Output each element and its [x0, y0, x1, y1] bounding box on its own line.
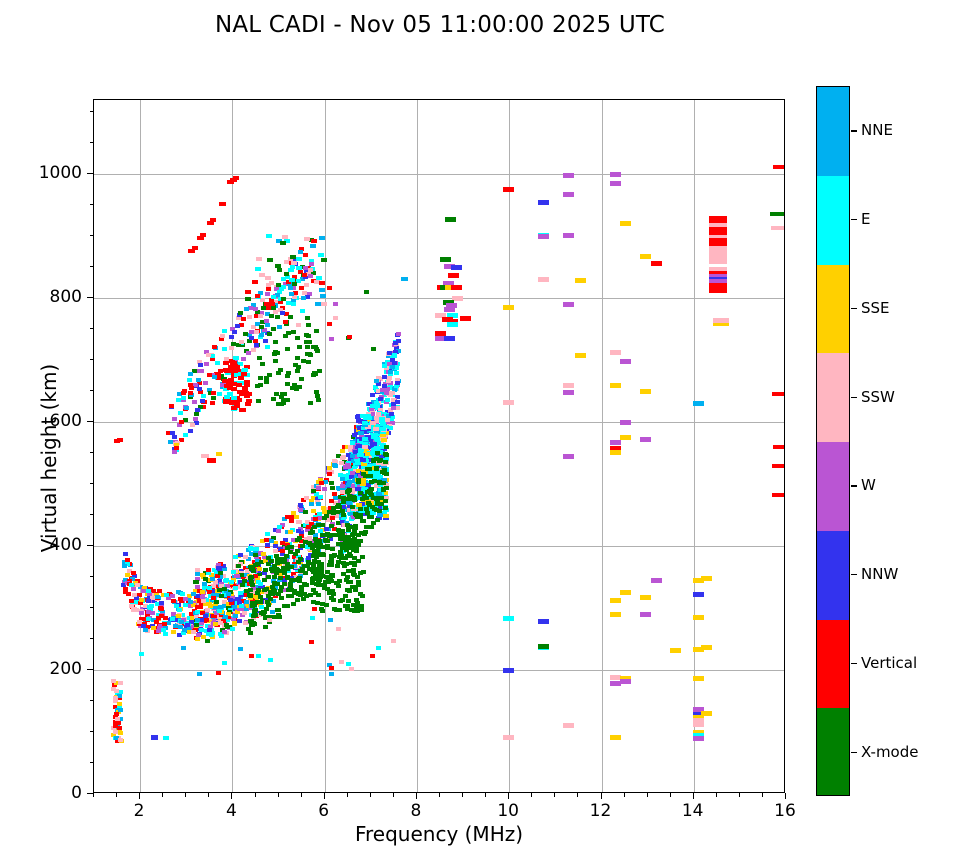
echo-cell [389, 412, 394, 416]
echo-cell [381, 438, 387, 442]
echo-cell [392, 361, 397, 365]
echo-cell [111, 687, 116, 691]
echo-cell [369, 515, 374, 519]
echo-cell [310, 530, 315, 534]
echo-cell [228, 598, 233, 602]
echo-cell [289, 292, 294, 296]
colorbar-label-nne: NNE [861, 121, 893, 139]
echo-cell [220, 334, 225, 338]
x-tick-minor [462, 793, 463, 797]
x-tick-minor [554, 793, 555, 797]
echo-cell [374, 379, 379, 383]
echo-cell [563, 390, 574, 395]
x-tick-major [324, 793, 325, 799]
echo-cell [772, 392, 786, 396]
echo-cell [383, 506, 388, 510]
y-tick-minor [90, 452, 94, 453]
echo-cell [620, 359, 631, 364]
echo-cell [172, 450, 177, 454]
gridline-vertical [325, 100, 326, 792]
echo-cell [200, 233, 206, 237]
echo-cell [364, 290, 369, 294]
echo-cell [151, 735, 158, 739]
echo-cell [292, 383, 297, 387]
echo-cell [307, 340, 312, 344]
echo-cell [325, 570, 330, 574]
colorbar-label-w: W [861, 476, 876, 494]
colorbar-segment-sse[interactable] [817, 265, 849, 354]
echo-cell [254, 343, 259, 347]
echo-cell [235, 324, 240, 328]
echo-cell [218, 571, 223, 575]
echo-cell [331, 598, 336, 602]
echo-cell [693, 736, 704, 741]
echo-cell [286, 331, 291, 335]
echo-cell [349, 561, 354, 565]
echo-cell [313, 537, 318, 541]
echo-cell [312, 552, 317, 556]
echo-cell [304, 237, 310, 241]
echo-cell [344, 497, 349, 501]
y-tick-minor [90, 390, 94, 391]
echo-cell [195, 568, 200, 572]
echo-cell [377, 513, 383, 517]
echo-cell [328, 560, 333, 564]
echo-cell [267, 258, 273, 262]
echo-cell [229, 346, 234, 350]
echo-cell [249, 654, 254, 658]
echo-cell [288, 550, 293, 554]
echo-cell [285, 382, 290, 386]
echo-cell [234, 404, 240, 408]
echo-cell [259, 605, 264, 609]
echo-cell [113, 730, 118, 734]
echo-cell [250, 567, 255, 571]
echo-cell [146, 589, 151, 593]
echo-cell [382, 375, 387, 379]
echo-cell [195, 618, 200, 622]
echo-cell [188, 372, 193, 376]
echo-cell [610, 383, 621, 388]
x-tick-minor [716, 793, 717, 797]
echo-cell [311, 373, 316, 377]
echo-cell [256, 399, 261, 403]
echo-cell [132, 593, 137, 597]
echo-cell [171, 630, 176, 634]
echo-cell [246, 627, 251, 631]
echo-cell [340, 449, 345, 453]
y-tick-major [87, 669, 93, 670]
colorbar-segment-e[interactable] [817, 176, 849, 265]
echo-cell [122, 564, 127, 568]
echo-cell [163, 632, 168, 636]
echo-cell [340, 456, 345, 460]
echo-cell [460, 316, 471, 321]
echo-cell [239, 408, 245, 412]
echo-cell [118, 681, 123, 685]
echo-cell [358, 507, 363, 511]
echo-cell [563, 723, 574, 728]
colorbar-tick [851, 130, 857, 131]
echo-cell [771, 226, 785, 230]
echo-cell [371, 442, 377, 446]
echo-cell [172, 435, 177, 439]
echo-cell [368, 474, 373, 478]
y-tick-minor [90, 266, 94, 267]
echo-cell [325, 532, 330, 536]
echo-cell [310, 244, 316, 248]
echo-cell [388, 370, 393, 374]
echo-cell [335, 564, 340, 568]
echo-cell [223, 400, 229, 404]
echo-cell [288, 268, 294, 272]
echo-cell [773, 445, 786, 449]
echo-cell [272, 352, 277, 356]
echo-cell [292, 589, 297, 593]
x-tick-major [231, 793, 232, 799]
echo-cell [382, 471, 387, 475]
echo-cell [271, 295, 276, 299]
echo-cell [289, 565, 294, 569]
echo-cell [316, 583, 321, 587]
echo-cell [367, 467, 372, 471]
echo-cell [392, 353, 397, 357]
x-tick-minor [762, 793, 763, 797]
echo-cell [242, 368, 248, 372]
echo-cell [563, 233, 574, 238]
echo-cell [271, 397, 276, 401]
echo-cell [141, 624, 146, 628]
x-tick-minor [93, 793, 94, 797]
echo-cell [285, 604, 290, 608]
echo-cell [254, 330, 259, 334]
echo-cell [640, 612, 651, 617]
echo-cell [154, 620, 159, 624]
colorbar-label-sse: SSE [861, 299, 890, 317]
x-axis-title: Frequency (MHz) [93, 822, 785, 846]
echo-cell [610, 735, 621, 740]
echo-cell [255, 294, 260, 298]
colorbar-segment-x-mode[interactable] [817, 708, 849, 796]
echo-cell [300, 309, 305, 313]
echo-cell [183, 418, 188, 422]
x-tick-minor [255, 793, 256, 797]
echo-cell [440, 257, 451, 262]
echo-cell [311, 489, 316, 493]
echo-cell [285, 575, 290, 579]
echo-cell [195, 585, 200, 589]
echo-cell [310, 616, 315, 620]
echo-cell [194, 412, 199, 416]
echo-cell [320, 552, 325, 556]
colorbar[interactable] [816, 86, 850, 796]
echo-cell [189, 386, 194, 390]
echo-cell [298, 250, 303, 254]
echo-cell [197, 672, 202, 676]
echo-cell [385, 398, 390, 402]
echo-cell [224, 578, 229, 582]
echo-cell [222, 661, 227, 665]
echo-cell [358, 491, 363, 495]
echo-cell [281, 285, 286, 289]
echo-cell [291, 511, 296, 515]
echo-cell [266, 603, 271, 607]
y-tick-major [87, 173, 93, 174]
y-tick-minor [90, 359, 94, 360]
echo-cell [293, 363, 298, 367]
echo-cell [242, 611, 247, 615]
echo-cell [321, 258, 327, 262]
echo-cell [306, 360, 311, 364]
echo-cell [329, 554, 334, 558]
echo-cell [620, 420, 631, 425]
echo-cell [249, 336, 254, 340]
echo-cell [301, 296, 306, 300]
echo-cell [296, 266, 302, 270]
echo-cell [163, 616, 168, 620]
echo-cell [538, 200, 549, 205]
echo-cell [369, 525, 374, 529]
echo-cell [387, 351, 392, 355]
echo-cell [322, 510, 327, 514]
x-tick-major [601, 793, 602, 799]
echo-cell [190, 423, 195, 427]
colorbar-tick [851, 485, 857, 486]
echo-cell [296, 560, 301, 564]
echo-cell [341, 513, 346, 517]
echo-cell [226, 592, 231, 596]
plot-area[interactable] [93, 99, 785, 793]
echo-cell [355, 601, 360, 605]
echo-cell [241, 317, 246, 321]
echo-cell [317, 516, 322, 520]
echo-cell [114, 439, 120, 443]
echo-cell [237, 619, 242, 623]
echo-cell [224, 395, 230, 399]
colorbar-segment-ssw[interactable] [817, 353, 849, 442]
y-tick-minor [90, 204, 94, 205]
echo-cell [179, 620, 184, 624]
y-axis-title: Virtual height (km) [37, 308, 61, 608]
echo-cell [383, 514, 389, 518]
echo-cell [295, 369, 300, 373]
echo-cell [206, 353, 211, 357]
colorbar-label-nnw: NNW [861, 565, 898, 583]
echo-cell [253, 553, 258, 557]
echo-cell [275, 608, 280, 612]
echo-cell [205, 639, 210, 643]
echo-cell [269, 314, 274, 318]
echo-cell [353, 546, 358, 550]
echo-cell [219, 202, 226, 206]
colorbar-segment-w[interactable] [817, 442, 849, 531]
echo-cell [339, 556, 344, 560]
echo-cell [143, 628, 148, 632]
echo-cell [610, 440, 621, 445]
echo-cell [320, 533, 325, 537]
echo-cell [233, 586, 238, 590]
echo-cell [301, 359, 306, 363]
echo-cell [640, 595, 651, 600]
colorbar-tick [851, 752, 857, 753]
echo-cell [346, 599, 351, 603]
echo-cell [347, 589, 352, 593]
echo-cell [349, 667, 354, 671]
echo-cell [444, 307, 455, 312]
echo-cell [359, 531, 364, 535]
echo-cell [319, 569, 324, 573]
echo-cell [258, 376, 263, 380]
echo-cell [268, 597, 273, 601]
x-tick-label: 4 [226, 801, 237, 821]
echo-cell [257, 356, 262, 360]
echo-cell [299, 588, 304, 592]
echo-cell [503, 616, 514, 621]
chart-title: NAL CADI - Nov 05 11:00:00 2025 UTC [0, 12, 880, 38]
echo-cell [275, 264, 281, 268]
echo-cell [709, 258, 727, 264]
echo-cell [281, 557, 286, 561]
echo-cell [379, 502, 384, 506]
echo-cell [563, 454, 574, 459]
echo-cell [358, 431, 364, 435]
echo-cell [269, 559, 274, 563]
echo-cell [356, 478, 361, 482]
echo-cell [340, 531, 345, 535]
echo-cell [311, 509, 316, 513]
colorbar-segment-nne[interactable] [817, 87, 849, 176]
echo-cell [259, 325, 264, 329]
echo-cell [620, 590, 631, 595]
echo-cell [137, 620, 142, 624]
colorbar-segment-nnw[interactable] [817, 531, 849, 620]
echo-cell [188, 600, 193, 604]
y-tick-label: 1000 [22, 163, 82, 183]
echo-cell [350, 505, 355, 509]
echo-cell [246, 351, 251, 355]
echo-cell [620, 679, 631, 684]
echo-cell [291, 602, 296, 606]
echo-cell [350, 441, 355, 445]
echo-cell [205, 608, 210, 612]
echo-cell [202, 582, 207, 586]
echo-cell [328, 618, 333, 622]
echo-cell [314, 329, 319, 333]
echo-cell [268, 658, 273, 662]
echo-cell [651, 261, 662, 266]
echo-cell [139, 652, 144, 656]
echo-cell [203, 577, 208, 581]
x-tick-major [693, 793, 694, 799]
echo-cell [222, 329, 227, 333]
echo-cell [269, 281, 274, 285]
echo-cell [183, 433, 188, 437]
echo-cell [182, 389, 187, 393]
echo-cell [229, 335, 234, 339]
echo-cell [390, 365, 395, 369]
echo-cell [273, 544, 278, 548]
y-tick-minor [90, 731, 94, 732]
x-tick-minor [208, 793, 209, 797]
echo-cell [238, 311, 243, 315]
echo-cell [350, 542, 355, 546]
echo-cell [181, 646, 186, 650]
echo-cell [503, 305, 514, 310]
echo-cell [360, 555, 365, 559]
echo-cell [503, 735, 514, 740]
echo-cell [319, 236, 325, 240]
echo-cell [123, 552, 128, 556]
ionogram-figure: NAL CADI - Nov 05 11:00:00 2025 UTC 2468… [0, 0, 958, 857]
echo-cell [313, 591, 318, 595]
y-tick-minor [90, 514, 94, 515]
echo-cell [563, 302, 574, 307]
echo-cell [304, 496, 309, 500]
echo-cell [355, 575, 360, 579]
x-tick-label: 12 [590, 801, 612, 821]
echo-cell [337, 505, 342, 509]
echo-cell [378, 458, 383, 462]
echo-cell [214, 600, 219, 604]
echo-cell [289, 578, 294, 582]
echo-cell [249, 580, 254, 584]
echo-cell [231, 396, 237, 400]
echo-cell [303, 571, 308, 575]
echo-cell [339, 660, 344, 664]
echo-cell [345, 607, 350, 611]
echo-cell [308, 274, 313, 278]
echo-cell [345, 523, 350, 527]
echo-cell [329, 524, 334, 528]
echo-cell [168, 440, 173, 444]
echo-cell [282, 582, 287, 586]
echo-cell [360, 594, 365, 598]
echo-cell [222, 347, 227, 351]
echo-cell [330, 516, 335, 520]
echo-cell [279, 596, 284, 600]
echo-cell [308, 268, 313, 272]
echo-cell [350, 533, 355, 537]
echo-cell [362, 437, 368, 441]
echo-cell [227, 386, 233, 390]
echo-cell [257, 567, 262, 571]
echo-cell [278, 368, 283, 372]
echo-cell [118, 738, 123, 742]
echo-cell [329, 672, 334, 676]
echo-cell [248, 631, 253, 635]
colorbar-segment-vertical[interactable] [817, 620, 849, 709]
echo-cell [212, 345, 217, 349]
echo-cell [391, 639, 396, 643]
echo-cell [610, 612, 621, 617]
echo-cell [277, 525, 282, 529]
echo-cell [773, 165, 786, 169]
echo-cell [210, 577, 215, 581]
echo-cell [320, 602, 325, 606]
y-tick-label: 200 [22, 659, 82, 679]
echo-cell [693, 401, 704, 406]
echo-cell [199, 369, 204, 373]
echo-cell [286, 594, 291, 598]
echo-cell [352, 556, 357, 560]
echo-cell [320, 294, 326, 298]
echo-cell [288, 286, 293, 290]
echo-cell [336, 627, 341, 631]
echo-cell [693, 592, 704, 597]
echo-cell [321, 302, 327, 306]
echo-cell [332, 492, 337, 496]
echo-cell [209, 633, 214, 637]
